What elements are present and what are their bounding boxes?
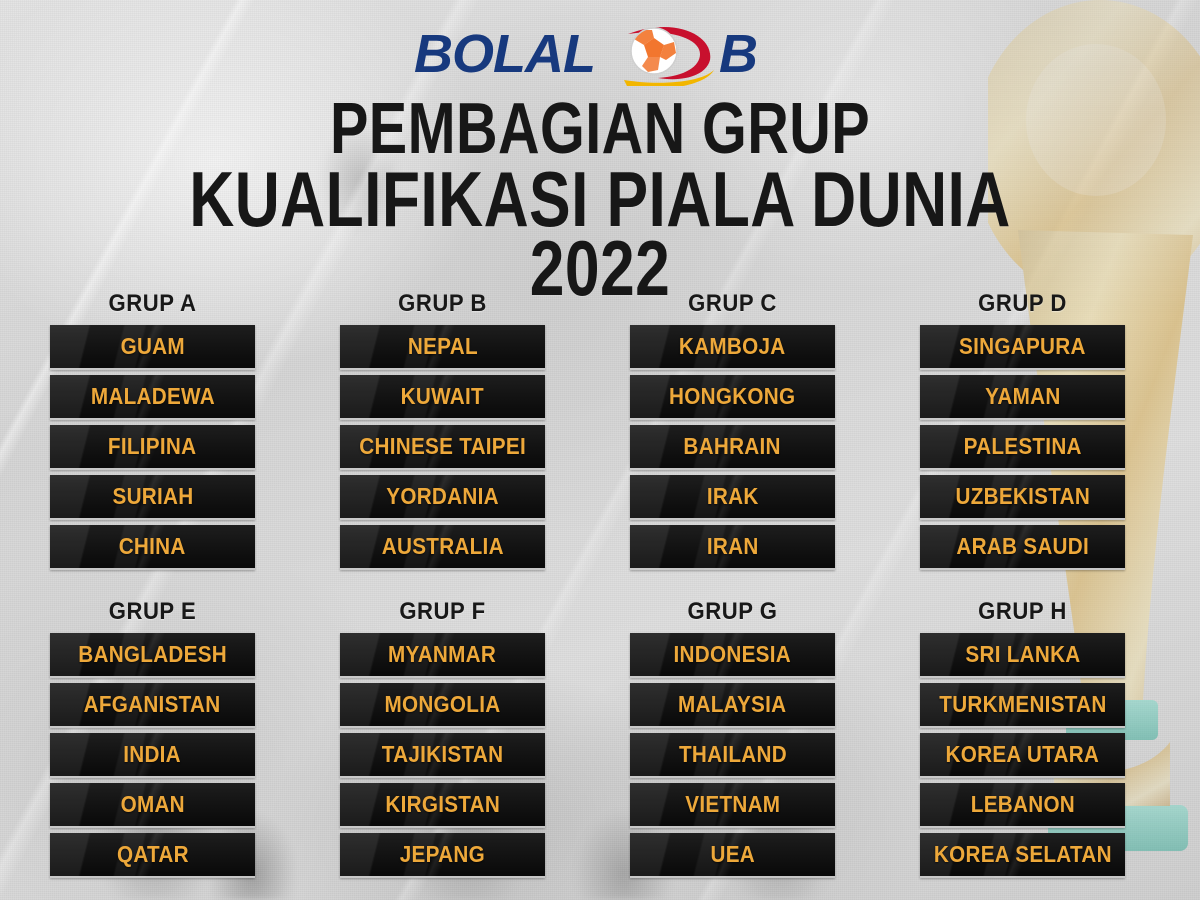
team-name: YAMAN: [985, 383, 1060, 410]
team-row: MALADEWA: [50, 375, 255, 420]
group-column: GRUP CKAMBOJAHONGKONGBAHRAINIRAKIRAN: [630, 290, 835, 575]
team-name: IRAK: [707, 483, 759, 510]
team-row: IRAK: [630, 475, 835, 520]
team-row: TURKMENISTAN: [920, 683, 1125, 728]
team-name: AUSTRALIA: [381, 533, 503, 560]
site-logo[interactable]: BOLAL B: [0, 22, 1200, 84]
team-name: CHINESE TAIPEI: [359, 433, 526, 460]
team-row: YAMAN: [920, 375, 1125, 420]
team-name: MONGOLIA: [384, 691, 500, 718]
team-row: YORDANIA: [340, 475, 545, 520]
team-row: KUWAIT: [340, 375, 545, 420]
team-row: QATAR: [50, 833, 255, 878]
team-name: YORDANIA: [386, 483, 499, 510]
team-name: SINGAPURA: [959, 333, 1086, 360]
team-name: KIRGISTAN: [385, 791, 500, 818]
team-row: KOREA UTARA: [920, 733, 1125, 778]
team-name: IRAN: [707, 533, 759, 560]
team-name: THAILAND: [679, 741, 787, 768]
team-name: QATAR: [117, 841, 189, 868]
team-row: IRAN: [630, 525, 835, 570]
team-name: NEPAL: [408, 333, 478, 360]
team-row: PALESTINA: [920, 425, 1125, 470]
group-column: GRUP BNEPALKUWAITCHINESE TAIPEIYORDANIAA…: [340, 290, 545, 575]
team-row: VIETNAM: [630, 783, 835, 828]
team-row: KOREA SELATAN: [920, 833, 1125, 878]
team-name: VIETNAM: [685, 791, 780, 818]
team-name: TURKMENISTAN: [939, 691, 1106, 718]
team-row: KAMBOJA: [630, 325, 835, 370]
team-name: MALADEWA: [90, 383, 214, 410]
page-title: PEMBAGIAN GRUP KUALIFIKASI PIALA DUNIA 2…: [0, 98, 1200, 303]
group-column: GRUP GINDONESIAMALAYSIATHAILANDVIETNAMUE…: [630, 598, 835, 883]
team-name: SURIAH: [112, 483, 193, 510]
team-name: HONGKONG: [669, 383, 795, 410]
team-row: FILIPINA: [50, 425, 255, 470]
group-title: GRUP B: [348, 290, 537, 318]
team-row: MONGOLIA: [340, 683, 545, 728]
team-row: UZBEKISTAN: [920, 475, 1125, 520]
team-row: AFGANISTAN: [50, 683, 255, 728]
logo-text-left: BOLAL: [414, 24, 595, 84]
team-row: AUSTRALIA: [340, 525, 545, 570]
team-row: GUAM: [50, 325, 255, 370]
team-name: KUWAIT: [401, 383, 484, 410]
team-name: UZBEKISTAN: [955, 483, 1090, 510]
group-title: GRUP G: [638, 598, 827, 626]
team-name: FILIPINA: [108, 433, 196, 460]
group-title: GRUP F: [348, 598, 537, 626]
team-name: KOREA UTARA: [946, 741, 1100, 768]
team-name: MALAYSIA: [678, 691, 786, 718]
team-name: KAMBOJA: [679, 333, 786, 360]
team-row: JEPANG: [340, 833, 545, 878]
team-name: OMAN: [120, 791, 184, 818]
group-column: GRUP AGUAMMALADEWAFILIPINASURIAHCHINA: [50, 290, 255, 575]
team-name: PALESTINA: [963, 433, 1081, 460]
group-title: GRUP C: [638, 290, 827, 318]
team-row: INDONESIA: [630, 633, 835, 678]
group-column: GRUP EBANGLADESHAFGANISTANINDIAOMANQATAR: [50, 598, 255, 883]
bolalob-logo-graphic: BOLAL B: [414, 20, 786, 86]
team-name: UEA: [710, 841, 755, 868]
team-row: OMAN: [50, 783, 255, 828]
logo-soccer-ball-icon: [631, 28, 677, 74]
team-row: BANGLADESH: [50, 633, 255, 678]
team-name: LEBANON: [970, 791, 1074, 818]
team-name: CHINA: [119, 533, 186, 560]
team-name: KOREA SELATAN: [934, 841, 1112, 868]
team-row: KIRGISTAN: [340, 783, 545, 828]
team-row: CHINA: [50, 525, 255, 570]
group-column: GRUP HSRI LANKATURKMENISTANKOREA UTARALE…: [920, 598, 1125, 883]
team-row: TAJIKISTAN: [340, 733, 545, 778]
group-title: GRUP D: [928, 290, 1117, 318]
team-row: THAILAND: [630, 733, 835, 778]
team-row: INDIA: [50, 733, 255, 778]
team-name: JEPANG: [400, 841, 485, 868]
team-row: BAHRAIN: [630, 425, 835, 470]
team-name: MYANMAR: [388, 641, 496, 668]
team-row: HONGKONG: [630, 375, 835, 420]
group-title: GRUP E: [58, 598, 247, 626]
team-name: AFGANISTAN: [84, 691, 221, 718]
team-name: SRI LANKA: [965, 641, 1080, 668]
group-column: GRUP DSINGAPURAYAMANPALESTINAUZBEKISTANA…: [920, 290, 1125, 575]
team-row: SURIAH: [50, 475, 255, 520]
logo-text-right: B: [719, 24, 758, 84]
team-name: TAJIKISTAN: [382, 741, 504, 768]
team-name: BAHRAIN: [684, 433, 781, 460]
team-row: SINGAPURA: [920, 325, 1125, 370]
group-grid: GRUP AGUAMMALADEWAFILIPINASURIAHCHINAGRU…: [50, 290, 1140, 883]
team-name: BANGLADESH: [78, 641, 227, 668]
group-title: GRUP H: [928, 598, 1117, 626]
group-column: GRUP FMYANMARMONGOLIATAJIKISTANKIRGISTAN…: [340, 598, 545, 883]
team-row: UEA: [630, 833, 835, 878]
page-title-line-2: KUALIFIKASI PIALA DUNIA 2022: [120, 165, 1080, 302]
team-row: NEPAL: [340, 325, 545, 370]
team-row: ARAB SAUDI: [920, 525, 1125, 570]
team-row: SRI LANKA: [920, 633, 1125, 678]
team-name: ARAB SAUDI: [956, 533, 1089, 560]
team-name: INDONESIA: [674, 641, 791, 668]
poster-canvas: BOLAL B PEMBAGIAN GRUP KUALIFIKASI PIALA…: [0, 0, 1200, 900]
team-row: MYANMAR: [340, 633, 545, 678]
team-row: MALAYSIA: [630, 683, 835, 728]
team-name: GUAM: [120, 333, 184, 360]
team-row: LEBANON: [920, 783, 1125, 828]
group-title: GRUP A: [58, 290, 247, 318]
team-name: INDIA: [124, 741, 182, 768]
team-row: CHINESE TAIPEI: [340, 425, 545, 470]
page-title-line-1: PEMBAGIAN GRUP: [120, 98, 1080, 161]
